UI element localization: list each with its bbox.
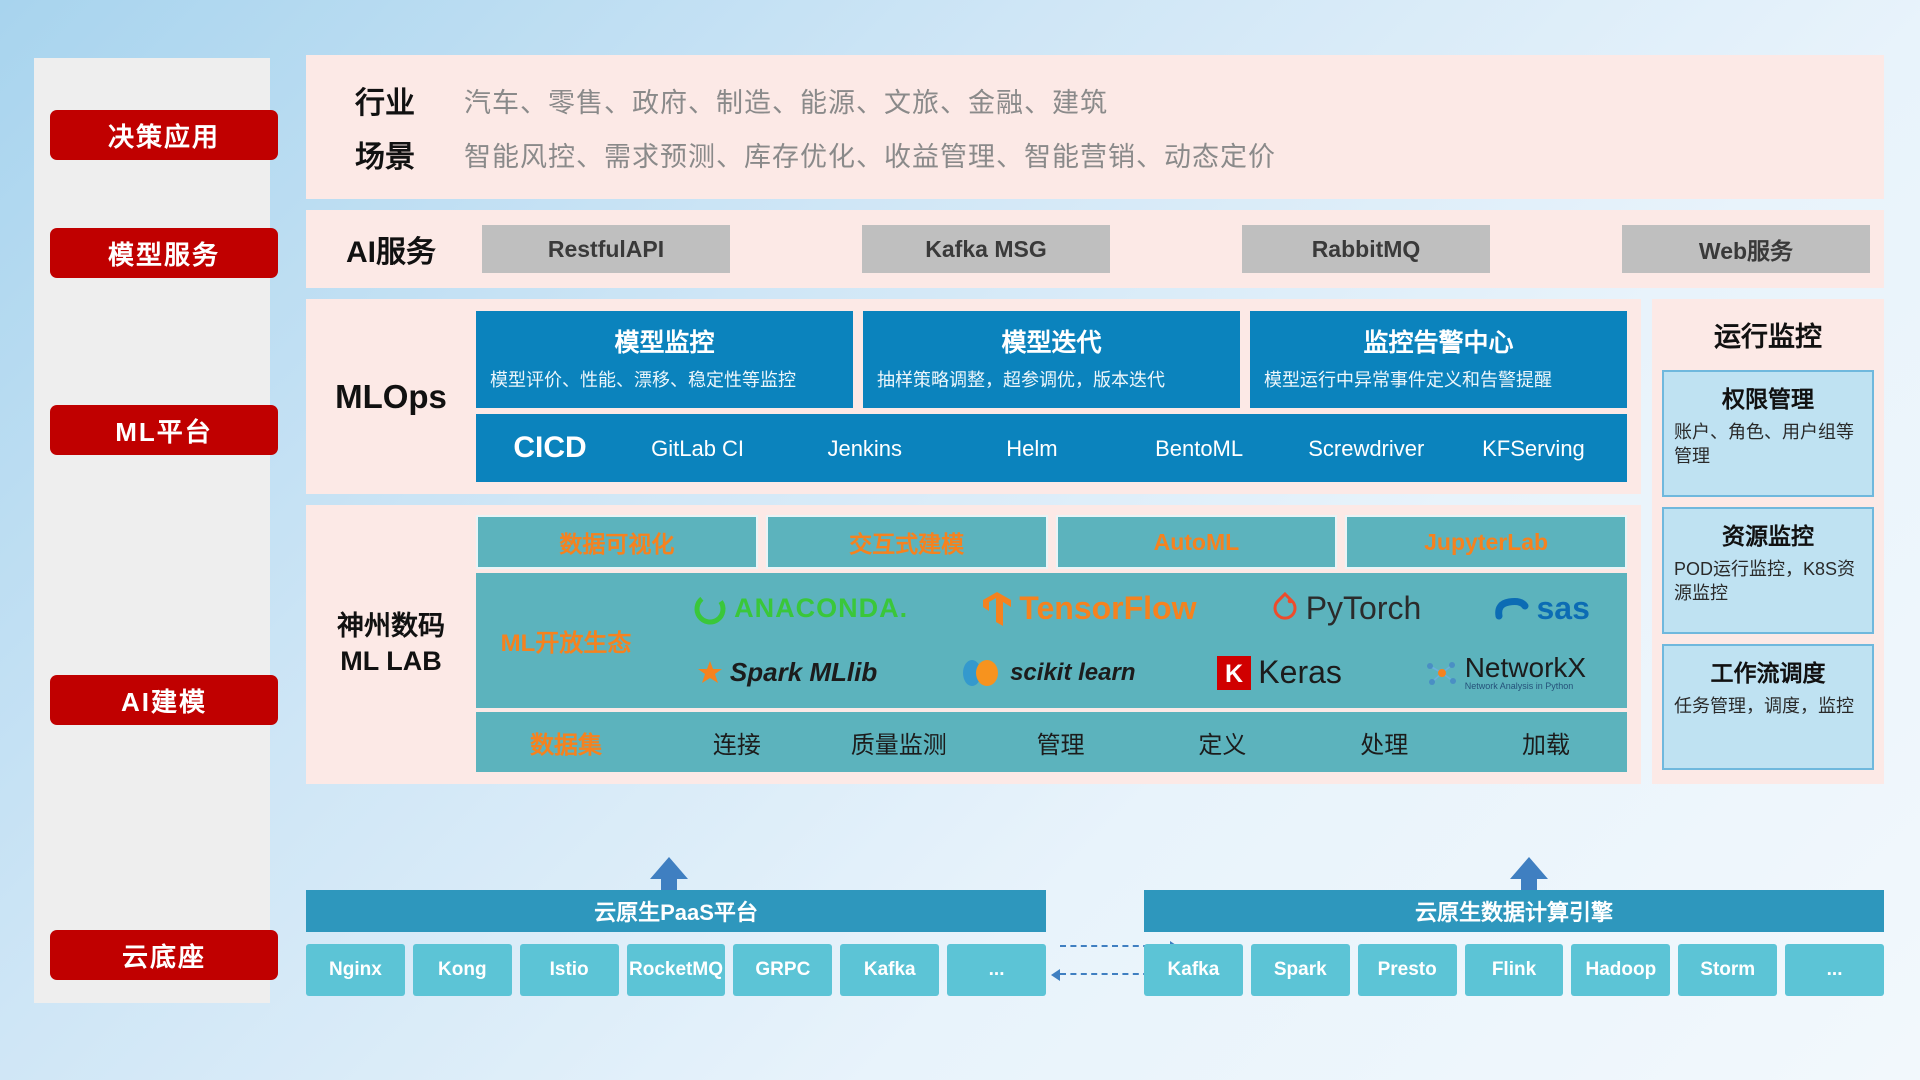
tile-desc: 模型运行中异常事件定义和告警提醒: [1264, 368, 1613, 392]
networkx-icon: [1424, 658, 1458, 688]
tensorflow-icon: [982, 591, 1012, 627]
industry-label: 行业: [306, 78, 464, 122]
mlops-band: MLOps 模型监控 模型评价、性能、漂移、稳定性等监控 模型迭代 抽样策略调整…: [306, 299, 1641, 494]
sas-logo: sas: [1495, 590, 1589, 627]
data-engine-bar[interactable]: 云原生数据计算引擎: [1144, 890, 1884, 932]
mlops-tile-model-iteration[interactable]: 模型迭代 抽样策略调整，超参调优，版本迭代: [863, 311, 1240, 408]
scikit-learn-logo: scikit learn: [959, 658, 1135, 688]
spark-text: Spark MLlib: [730, 657, 877, 688]
dataset-item-connect[interactable]: 连接: [656, 725, 818, 760]
ops-monitoring-title: 运行监控: [1714, 315, 1822, 354]
rail-label: AI建模: [121, 682, 207, 719]
engine-chip-presto[interactable]: Presto: [1358, 944, 1457, 996]
pytorch-logo: PyTorch: [1271, 590, 1422, 627]
ml-ecosystem-row: ML开放生态 ANACONDA.: [476, 573, 1627, 708]
engine-chip-flink[interactable]: Flink: [1465, 944, 1564, 996]
paas-chip-grpc[interactable]: GRPC: [733, 944, 832, 996]
data-engine-column: 云原生数据计算引擎 Kafka Spark Presto Flink Hadoo…: [1144, 890, 1884, 996]
ops-card-title: 权限管理: [1722, 380, 1814, 414]
sas-text: sas: [1536, 590, 1589, 627]
engine-chip-spark[interactable]: Spark: [1251, 944, 1350, 996]
sas-icon: [1495, 594, 1529, 624]
scikit-learn-text: scikit learn: [1010, 659, 1135, 687]
lab-tab-interactive-modeling[interactable]: 交互式建模: [766, 515, 1048, 569]
ml-lab-label: 神州数码 ML LAB: [306, 515, 476, 772]
paas-chip-kong[interactable]: Kong: [413, 944, 512, 996]
scenario-label: 场景: [306, 132, 464, 176]
lab-tab-jupyterlab[interactable]: JupyterLab: [1345, 515, 1627, 569]
dataset-row: 数据集 连接 质量监测 管理 定义 处理 加载: [476, 712, 1627, 772]
tile-title: 监控告警中心: [1264, 323, 1613, 359]
engine-chip-more[interactable]: ...: [1785, 944, 1884, 996]
industry-value: 汽车、零售、政府、制造、能源、文旅、金融、建筑: [464, 81, 1108, 120]
paas-chip-nginx[interactable]: Nginx: [306, 944, 405, 996]
dataset-item-quality[interactable]: 质量监测: [818, 725, 980, 760]
ops-card-workflow[interactable]: 工作流调度 任务管理，调度，监控: [1662, 644, 1874, 771]
ai-service-kafka-msg[interactable]: Kafka MSG: [862, 225, 1110, 273]
networkx-logo: NetworkX Network Analysis in Python: [1424, 654, 1586, 691]
ops-card-title: 资源监控: [1722, 517, 1814, 551]
spark-mllib-logo: Spark MLlib: [697, 657, 877, 688]
industry-row: 行业 汽车、零售、政府、制造、能源、文旅、金融、建筑: [306, 73, 1884, 127]
dataset-item-process[interactable]: 处理: [1303, 725, 1465, 760]
paas-chip-kafka[interactable]: Kafka: [840, 944, 939, 996]
ops-card-resource[interactable]: 资源监控 POD运行监控，K8S资源监控: [1662, 507, 1874, 634]
platform-section: MLOps 模型监控 模型评价、性能、漂移、稳定性等监控 模型迭代 抽样策略调整…: [306, 299, 1884, 784]
rail-item-ml-platform[interactable]: ML平台: [50, 405, 278, 455]
cicd-item-jenkins[interactable]: Jenkins: [781, 437, 948, 460]
tile-desc: 抽样策略调整，超参调优，版本迭代: [877, 368, 1226, 392]
cicd-title: CICD: [486, 431, 614, 465]
lab-tab-data-visualization[interactable]: 数据可视化: [476, 515, 758, 569]
keras-text: Keras: [1258, 654, 1342, 691]
svg-text:K: K: [1225, 660, 1243, 688]
paas-chip-istio[interactable]: Istio: [520, 944, 619, 996]
stack-layer-rail: [34, 58, 270, 1003]
keras-icon: K: [1217, 656, 1251, 690]
pytorch-text: PyTorch: [1306, 590, 1422, 627]
scenario-value: 智能风控、需求预测、库存优化、收益管理、智能营销、动态定价: [464, 135, 1276, 174]
keras-logo: K Keras: [1217, 654, 1342, 691]
lab-tab-automl[interactable]: AutoML: [1056, 515, 1338, 569]
ml-lab-label-cn: 神州数码: [337, 609, 445, 644]
tile-title: 模型监控: [490, 323, 839, 359]
networkx-subtext: Network Analysis in Python: [1465, 682, 1586, 691]
paas-bar[interactable]: 云原生PaaS平台: [306, 890, 1046, 932]
paas-chip-more[interactable]: ...: [947, 944, 1046, 996]
engine-chip-storm[interactable]: Storm: [1678, 944, 1777, 996]
ml-ecosystem-label: ML开放生态: [476, 623, 656, 658]
diagram-canvas: 决策应用 模型服务 ML平台 AI建模 云底座 行业 汽车、零售、政府、制造、能…: [0, 0, 1920, 1080]
rail-label: 云底座: [122, 937, 206, 974]
ops-card-desc: 任务管理，调度，监控: [1674, 694, 1854, 718]
anaconda-logo: ANACONDA.: [693, 592, 908, 626]
engine-chip-hadoop[interactable]: Hadoop: [1571, 944, 1670, 996]
cicd-item-screwdriver[interactable]: Screwdriver: [1283, 437, 1450, 460]
ops-card-desc: 账户、角色、用户组等管理: [1674, 420, 1862, 469]
anaconda-text: ANACONDA.: [734, 593, 908, 624]
rail-label: 决策应用: [108, 117, 220, 154]
dataset-item-manage[interactable]: 管理: [980, 725, 1142, 760]
mlops-tile-alert-center[interactable]: 监控告警中心 模型运行中异常事件定义和告警提醒: [1250, 311, 1627, 408]
ai-service-rabbitmq[interactable]: RabbitMQ: [1242, 225, 1490, 273]
ops-card-desc: POD运行监控，K8S资源监控: [1674, 557, 1862, 606]
pytorch-icon: [1271, 592, 1299, 626]
main-column: 行业 汽车、零售、政府、制造、能源、文旅、金融、建筑 场景 智能风控、需求预测、…: [306, 55, 1884, 784]
scikit-learn-icon: [959, 658, 1003, 688]
tile-desc: 模型评价、性能、漂移、稳定性等监控: [490, 368, 839, 392]
cicd-row: CICD GitLab CI Jenkins Helm BentoML Scre…: [476, 414, 1627, 482]
tile-title: 模型迭代: [877, 323, 1226, 359]
cloud-foundation-section: 云原生PaaS平台 Nginx Kong Istio RocketMQ GRPC…: [306, 890, 1884, 996]
rail-label: ML平台: [115, 412, 213, 449]
cicd-item-bentoml[interactable]: BentoML: [1116, 437, 1283, 460]
anaconda-icon: [693, 592, 727, 626]
cicd-item-kfserving[interactable]: KFServing: [1450, 437, 1617, 460]
cicd-item-helm[interactable]: Helm: [948, 437, 1115, 460]
rail-item-cloud-base[interactable]: 云底座: [50, 930, 278, 980]
ai-service-band: AI服务 RestfulAPI Kafka MSG RabbitMQ Web服务: [306, 210, 1884, 288]
ops-monitoring-panel: 运行监控 权限管理 账户、角色、用户组等管理 资源监控 POD运行监控，K8S资…: [1652, 299, 1884, 784]
ai-service-restfulapi[interactable]: RestfulAPI: [482, 225, 730, 273]
ai-service-web[interactable]: Web服务: [1622, 225, 1870, 273]
ops-card-permission[interactable]: 权限管理 账户、角色、用户组等管理: [1662, 370, 1874, 497]
dataset-label: 数据集: [476, 725, 656, 760]
ml-lab-band: 神州数码 ML LAB 数据可视化 交互式建模 AutoML JupyterLa…: [306, 505, 1641, 784]
tensorflow-logo: TensorFlow: [982, 590, 1196, 627]
scenario-row: 场景 智能风控、需求预测、库存优化、收益管理、智能营销、动态定价: [306, 127, 1884, 181]
ops-card-title: 工作流调度: [1711, 654, 1826, 688]
dataset-item-load[interactable]: 加载: [1465, 725, 1627, 760]
mlops-label: MLOps: [306, 311, 476, 482]
paas-column: 云原生PaaS平台 Nginx Kong Istio RocketMQ GRPC…: [306, 890, 1046, 996]
mlops-tile-model-monitoring[interactable]: 模型监控 模型评价、性能、漂移、稳定性等监控: [476, 311, 853, 408]
rail-item-model-service[interactable]: 模型服务: [50, 228, 278, 278]
rail-item-decision-app[interactable]: 决策应用: [50, 110, 278, 160]
dataset-item-define[interactable]: 定义: [1141, 725, 1303, 760]
engine-chip-kafka[interactable]: Kafka: [1144, 944, 1243, 996]
decision-app-band: 行业 汽车、零售、政府、制造、能源、文旅、金融、建筑 场景 智能风控、需求预测、…: [306, 55, 1884, 199]
cicd-item-gitlab-ci[interactable]: GitLab CI: [614, 437, 781, 460]
rail-label: 模型服务: [108, 235, 220, 272]
ai-service-label: AI服务: [306, 227, 476, 271]
tensorflow-text: TensorFlow: [1019, 590, 1196, 627]
rail-item-ai-modeling[interactable]: AI建模: [50, 675, 278, 725]
spark-star-icon: [697, 660, 723, 686]
paas-chip-rocketmq[interactable]: RocketMQ: [627, 944, 726, 996]
ml-lab-label-en: ML LAB: [340, 644, 442, 679]
networkx-text: NetworkX: [1465, 654, 1586, 682]
